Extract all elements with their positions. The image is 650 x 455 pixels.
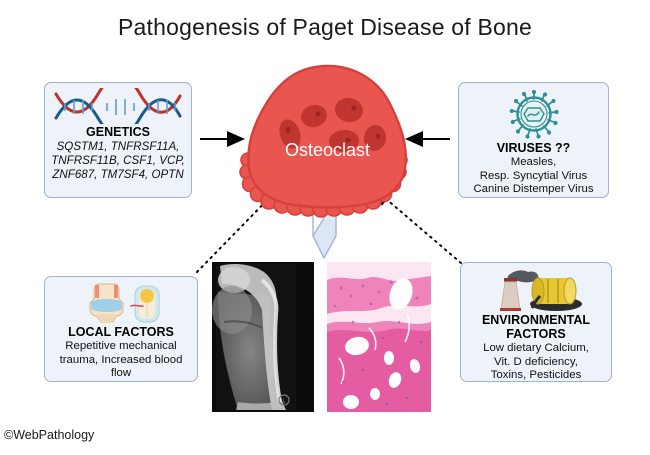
environmental-line-3: Toxins, Pesticides (465, 369, 607, 383)
virus-icon (508, 88, 560, 140)
environmental-heading-line-1: ENVIRONMENTAL (465, 313, 607, 327)
xray-image: L (212, 262, 314, 412)
knee-joint-bone-icon (75, 282, 167, 324)
factory-barrel-icon (488, 268, 584, 312)
local-factors-heading: LOCAL FACTORS (49, 325, 193, 339)
box-local-factors[interactable]: LOCAL FACTORS Repetitive mechanical trau… (44, 276, 198, 382)
environmental-factors-body: Low dietary Calcium, Vit. D deficiency, … (465, 342, 607, 383)
oil-barrel-sub-icon (530, 278, 582, 311)
viruses-line-3: Canine Distemper Virus (463, 183, 604, 197)
environmental-heading-line-2: FACTORS (465, 327, 607, 341)
osteoclast-cell (228, 62, 428, 222)
knee-joint-sub-icon (90, 284, 123, 323)
environmental-line-1: Low dietary Calcium, (465, 342, 607, 356)
box-viruses[interactable]: VIRUSES ?? Measles, Resp. Syncytial Viru… (458, 82, 609, 198)
box-environmental-factors[interactable]: ENVIRONMENTAL FACTORS Low dietary Calciu… (460, 262, 612, 382)
viruses-line-2: Resp. Syncytial Virus (463, 170, 604, 184)
box-genetics[interactable]: GENETICS SQSTM1, TNFRSF11A, TNFRSF11B, C… (44, 82, 192, 198)
diagram-canvas: Pathogenesis of Paget Disease of Bone (0, 0, 650, 455)
dna-helix-icon (52, 88, 184, 124)
genetics-gene-list: SQSTM1, TNFRSF11A, TNFRSF11B, CSF1, VCP,… (49, 140, 187, 182)
watermark: ©WebPathology (4, 428, 94, 442)
environmental-factors-heading: ENVIRONMENTAL FACTORS (465, 313, 607, 341)
local-factors-body: Repetitive mechanical trauma, Increased … (49, 340, 193, 381)
histology-image (327, 262, 431, 412)
bone-marrow-sub-icon (131, 286, 159, 322)
viruses-line-1: Measles, (463, 156, 604, 170)
viruses-heading: VIRUSES ?? (463, 141, 604, 155)
genetics-heading: GENETICS (49, 125, 187, 139)
viruses-list: Measles, Resp. Syncytial Virus Canine Di… (463, 156, 604, 197)
environmental-line-2: Vit. D deficiency, (465, 356, 607, 370)
